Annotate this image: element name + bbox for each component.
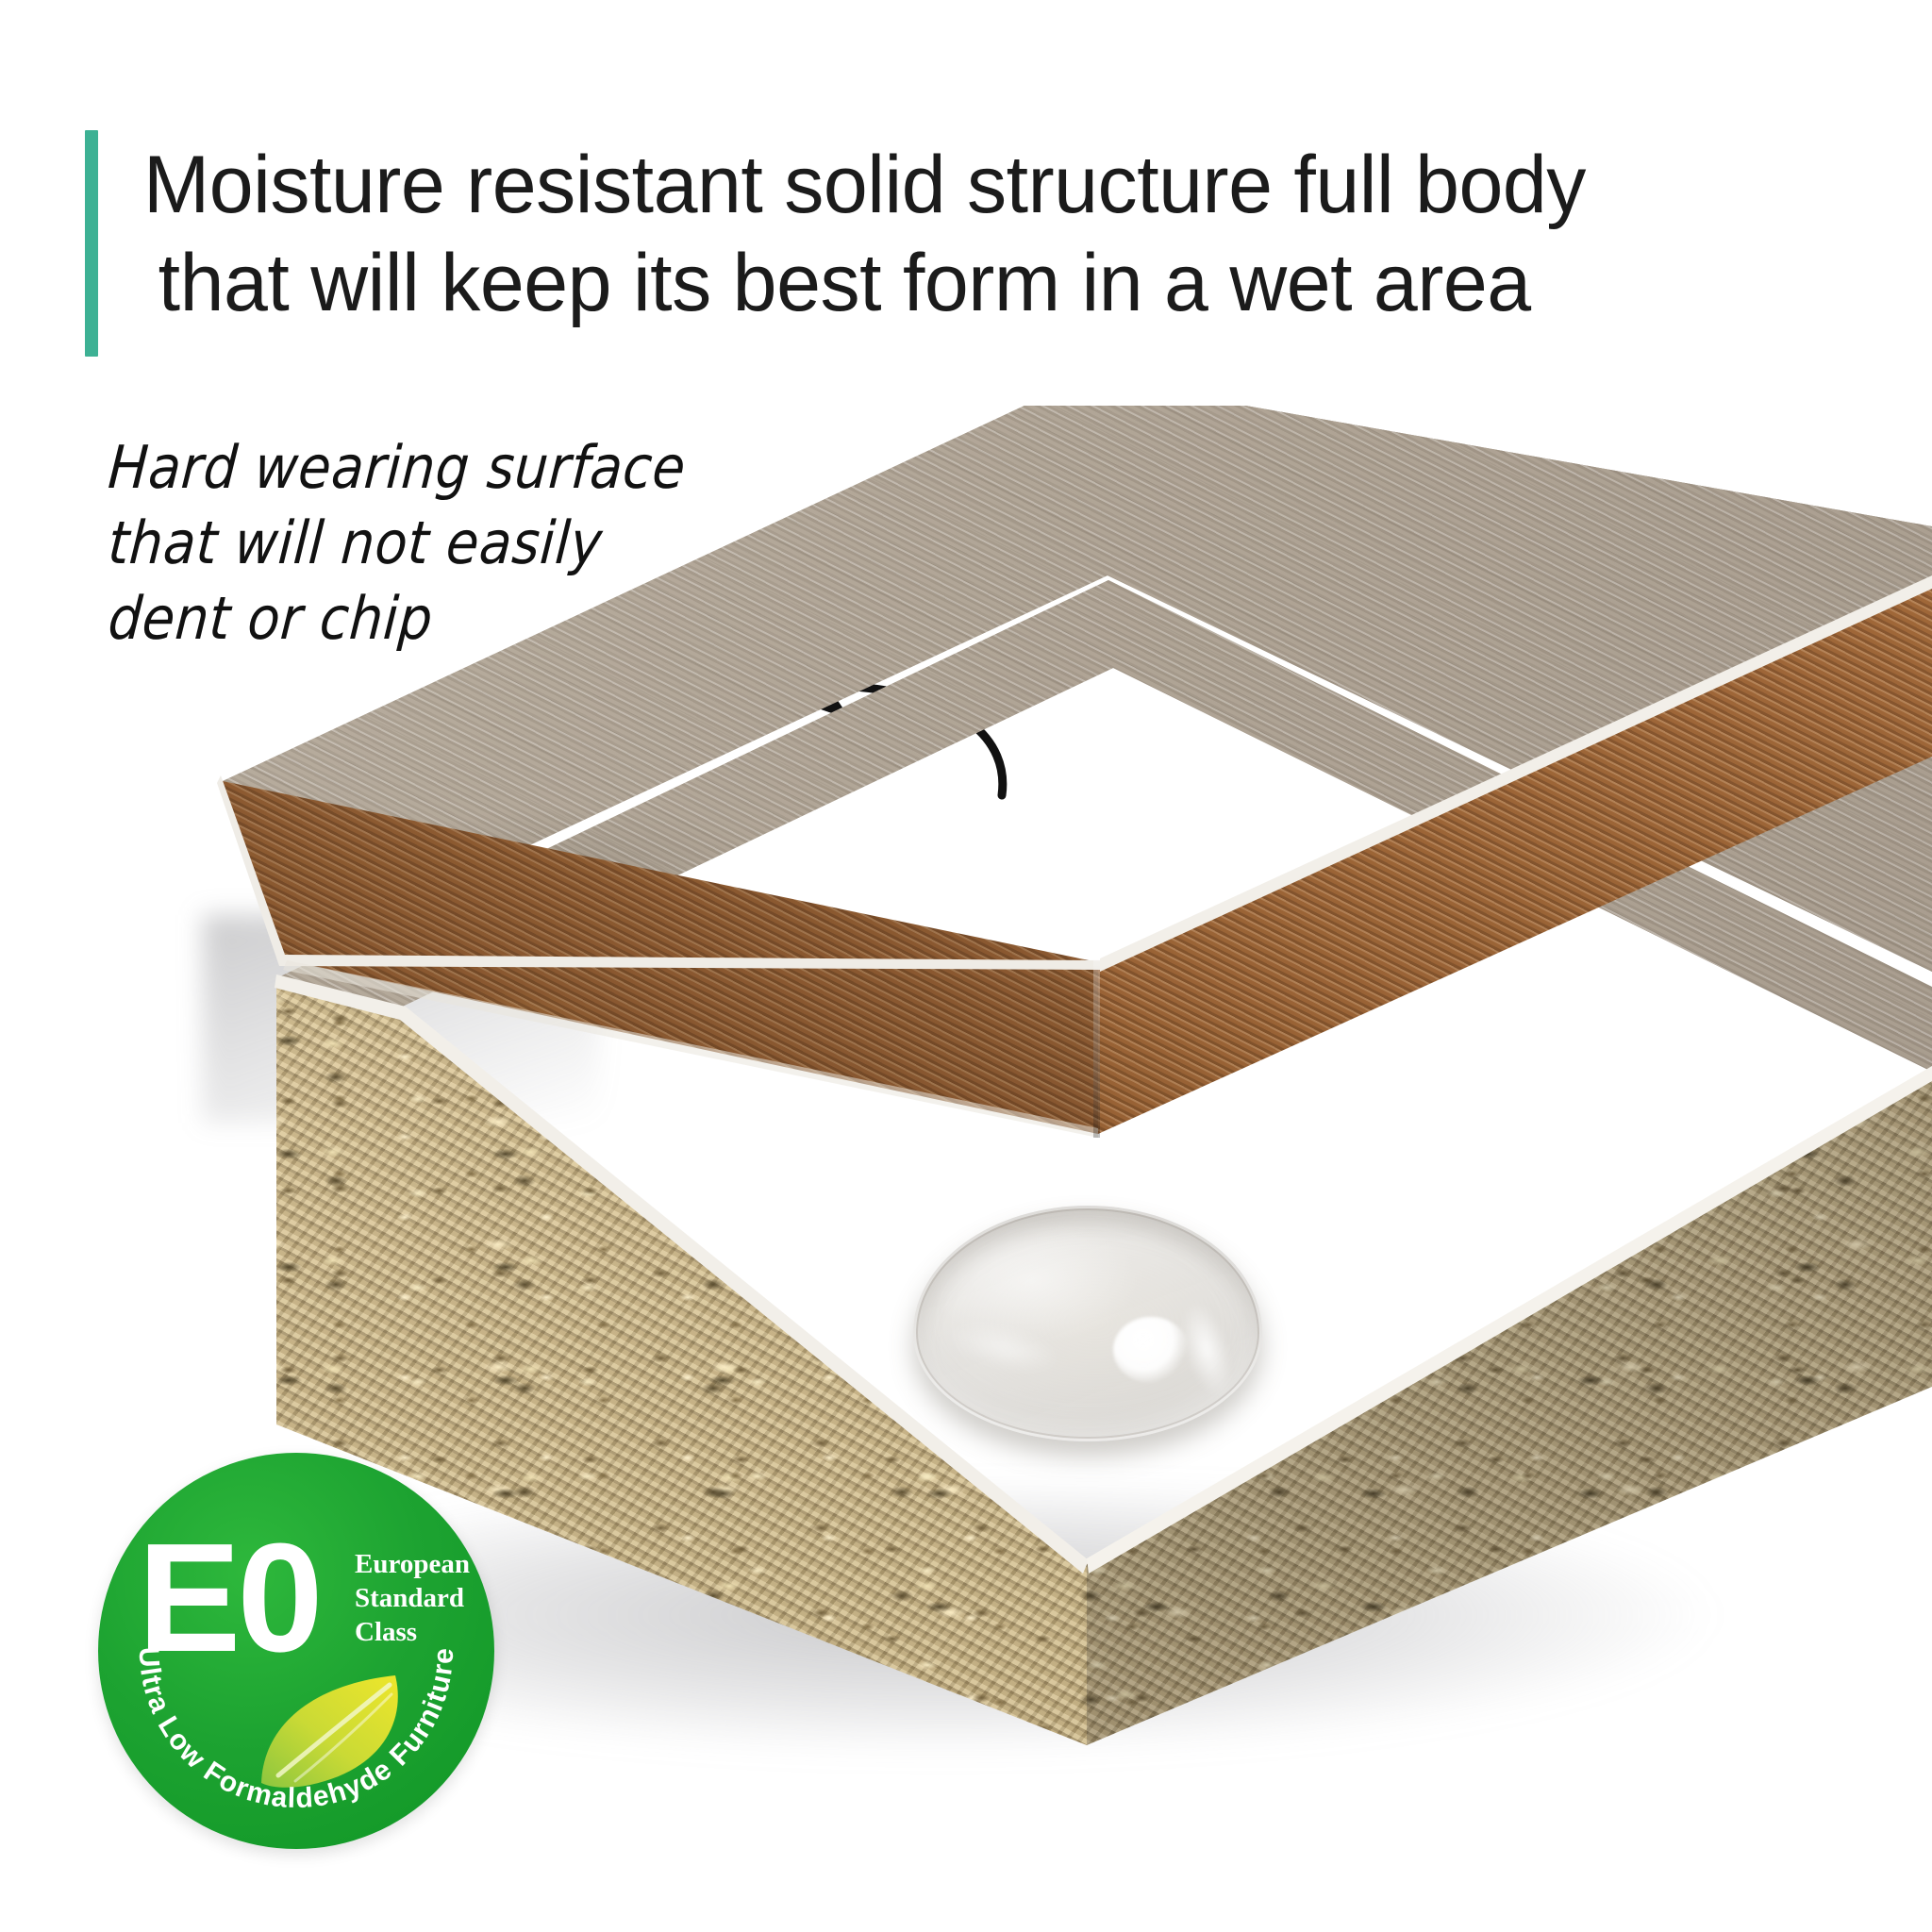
badge-ring-text: Ultra Low Formaldehyde Furniture — [98, 1453, 494, 1849]
badge-ring-text-path: Ultra Low Formaldehyde Furniture — [133, 1646, 460, 1814]
droplet-highlight-primary — [1113, 1317, 1189, 1383]
headline-text: Moisture resistant solid structure full … — [143, 130, 1615, 332]
headline-line-2: that will keep its best form in a wet ar… — [143, 234, 1586, 332]
headline-block: Moisture resistant solid structure full … — [85, 130, 1745, 357]
water-droplet — [913, 1206, 1262, 1441]
upper-board-corner-seam — [1093, 958, 1100, 1138]
headline-line-1: Moisture resistant solid structure full … — [143, 136, 1586, 234]
eco-certification-badge: E0 European Standard Class Ultr — [98, 1453, 494, 1849]
accent-bar — [85, 130, 98, 357]
svg-text:Ultra Low Formaldehyde Furnitu: Ultra Low Formaldehyde Furniture — [133, 1646, 460, 1814]
